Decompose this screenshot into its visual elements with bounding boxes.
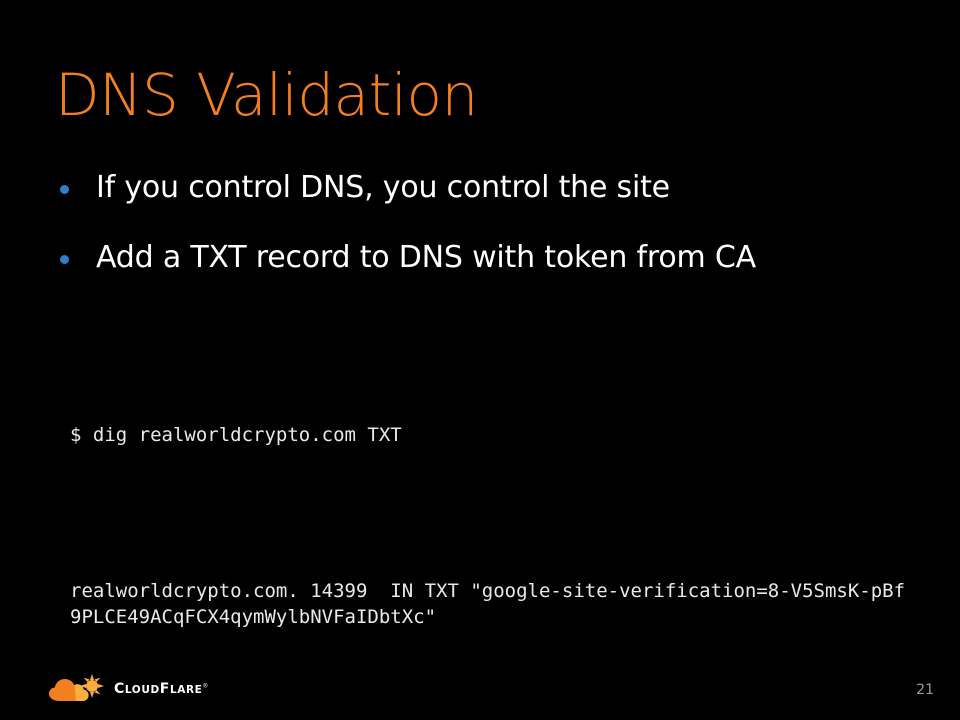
wordmark-f: F [160,681,170,697]
code-blank-line [70,500,910,526]
slide: DNS Validation If you control DNS, you c… [0,0,960,720]
bullet-text: Add a TXT record to DNS with token from … [96,238,756,279]
bullet-list: If you control DNS, you control the site… [60,168,890,308]
list-item: Add a TXT record to DNS with token from … [60,238,890,280]
wordmark-lare: LARE [170,684,202,696]
cloudflare-logo: CLOUDFLARE® [48,672,209,706]
code-block: $ dig realworldcrypto.com TXT realworldc… [70,370,910,682]
wordmark-c: C [114,681,125,697]
code-command-line: $ dig realworldcrypto.com TXT [70,422,910,448]
bullet-dot-icon [60,255,69,264]
cloudflare-wordmark: CLOUDFLARE® [114,681,209,697]
code-response-line: realworldcrypto.com. 14399 IN TXT "googl… [70,578,910,630]
registered-trademark-icon: ® [202,682,209,689]
cloud-icon [48,673,108,705]
list-item: If you control DNS, you control the site [60,168,890,210]
wordmark-loud: LOUD [125,684,160,696]
page-title: DNS Validation [55,62,478,129]
bullet-dot-icon [60,185,69,194]
page-number: 21 [916,682,934,698]
bullet-text: If you control DNS, you control the site [96,168,670,209]
